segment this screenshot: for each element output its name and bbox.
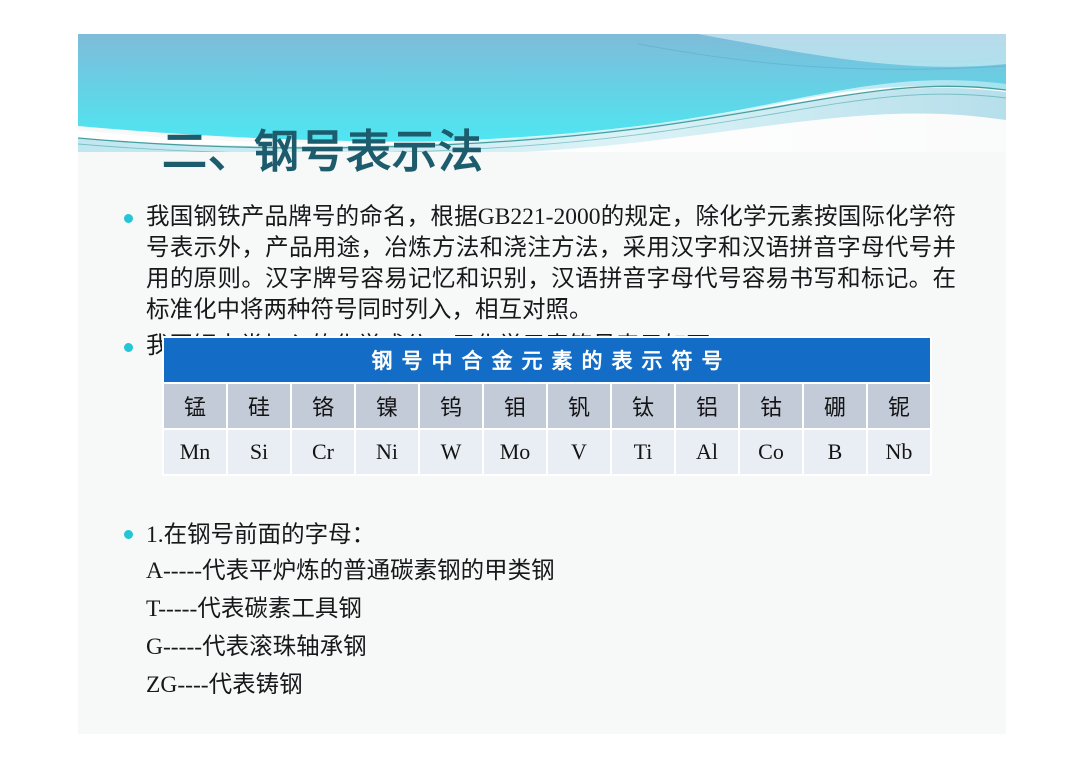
cell-symbol-6: V [548,430,610,474]
cell-chinese-7: 钛 [612,384,674,428]
cell-chinese-3: 镍 [356,384,418,428]
letter-line-3: ZG----代表铸钢 [146,666,555,704]
table-row-chinese: 锰 硅 铬 镍 钨 钼 钒 钛 铝 钴 硼 铌 [164,384,930,428]
cell-chinese-1: 硅 [228,384,290,428]
cell-chinese-5: 钼 [484,384,546,428]
cell-symbol-11: Nb [868,430,930,474]
cell-symbol-3: Ni [356,430,418,474]
letter-line-0: A-----代表平炉炼的普通碳素钢的甲类钢 [146,552,555,590]
bullet-text-1: 我国钢铁产品牌号的命名，根据GB221-2000的规定，除化学元素按国际化学符号… [146,202,956,326]
cell-chinese-9: 钴 [740,384,802,428]
cell-symbol-9: Co [740,430,802,474]
cell-chinese-6: 钒 [548,384,610,428]
table-row-symbols: Mn Si Cr Ni W Mo V Ti Al Co B Nb [164,430,930,474]
bullet-dot-icon [124,214,133,223]
bullet-paragraph-3: 1.在钢号前面的字母： A-----代表平炉炼的普通碳素钢的甲类钢 T-----… [124,518,966,704]
bullet-paragraph-1: 我国钢铁产品牌号的命名，根据GB221-2000的规定，除化学元素按国际化学符号… [124,202,966,326]
cell-chinese-0: 锰 [164,384,226,428]
letter-line-2: G-----代表滚珠轴承钢 [146,628,555,666]
slide-canvas: 二、钢号表示法 我国钢铁产品牌号的命名，根据GB221-2000的规定，除化学元… [78,34,1006,734]
cell-symbol-0: Mn [164,430,226,474]
cell-chinese-2: 铬 [292,384,354,428]
cell-symbol-10: B [804,430,866,474]
table-header-row: 钢号中合金元素的表示符号 [164,338,930,382]
cell-symbol-1: Si [228,430,290,474]
bullet-dot-icon [124,343,133,352]
cell-chinese-8: 铝 [676,384,738,428]
cell-symbol-2: Cr [292,430,354,474]
presentation-slide: 二、钢号表示法 我国钢铁产品牌号的命名，根据GB221-2000的规定，除化学元… [0,0,1080,764]
letter-section-heading: 1.在钢号前面的字母： [146,518,555,552]
table-title-cell: 钢号中合金元素的表示符号 [164,338,930,382]
cell-symbol-8: Al [676,430,738,474]
cell-symbol-5: Mo [484,430,546,474]
cell-symbol-4: W [420,430,482,474]
letter-line-1: T-----代表碳素工具钢 [146,590,555,628]
cell-chinese-10: 硼 [804,384,866,428]
page-title: 二、钢号表示法 [162,129,484,174]
cell-chinese-11: 铌 [868,384,930,428]
alloy-element-table: 钢号中合金元素的表示符号 锰 硅 铬 镍 钨 钼 钒 钛 铝 钴 硼 铌 [162,336,932,476]
cell-chinese-4: 钨 [420,384,482,428]
cell-symbol-7: Ti [612,430,674,474]
bullet-dot-icon [124,530,133,539]
letter-section: 1.在钢号前面的字母： A-----代表平炉炼的普通碳素钢的甲类钢 T-----… [146,518,555,704]
